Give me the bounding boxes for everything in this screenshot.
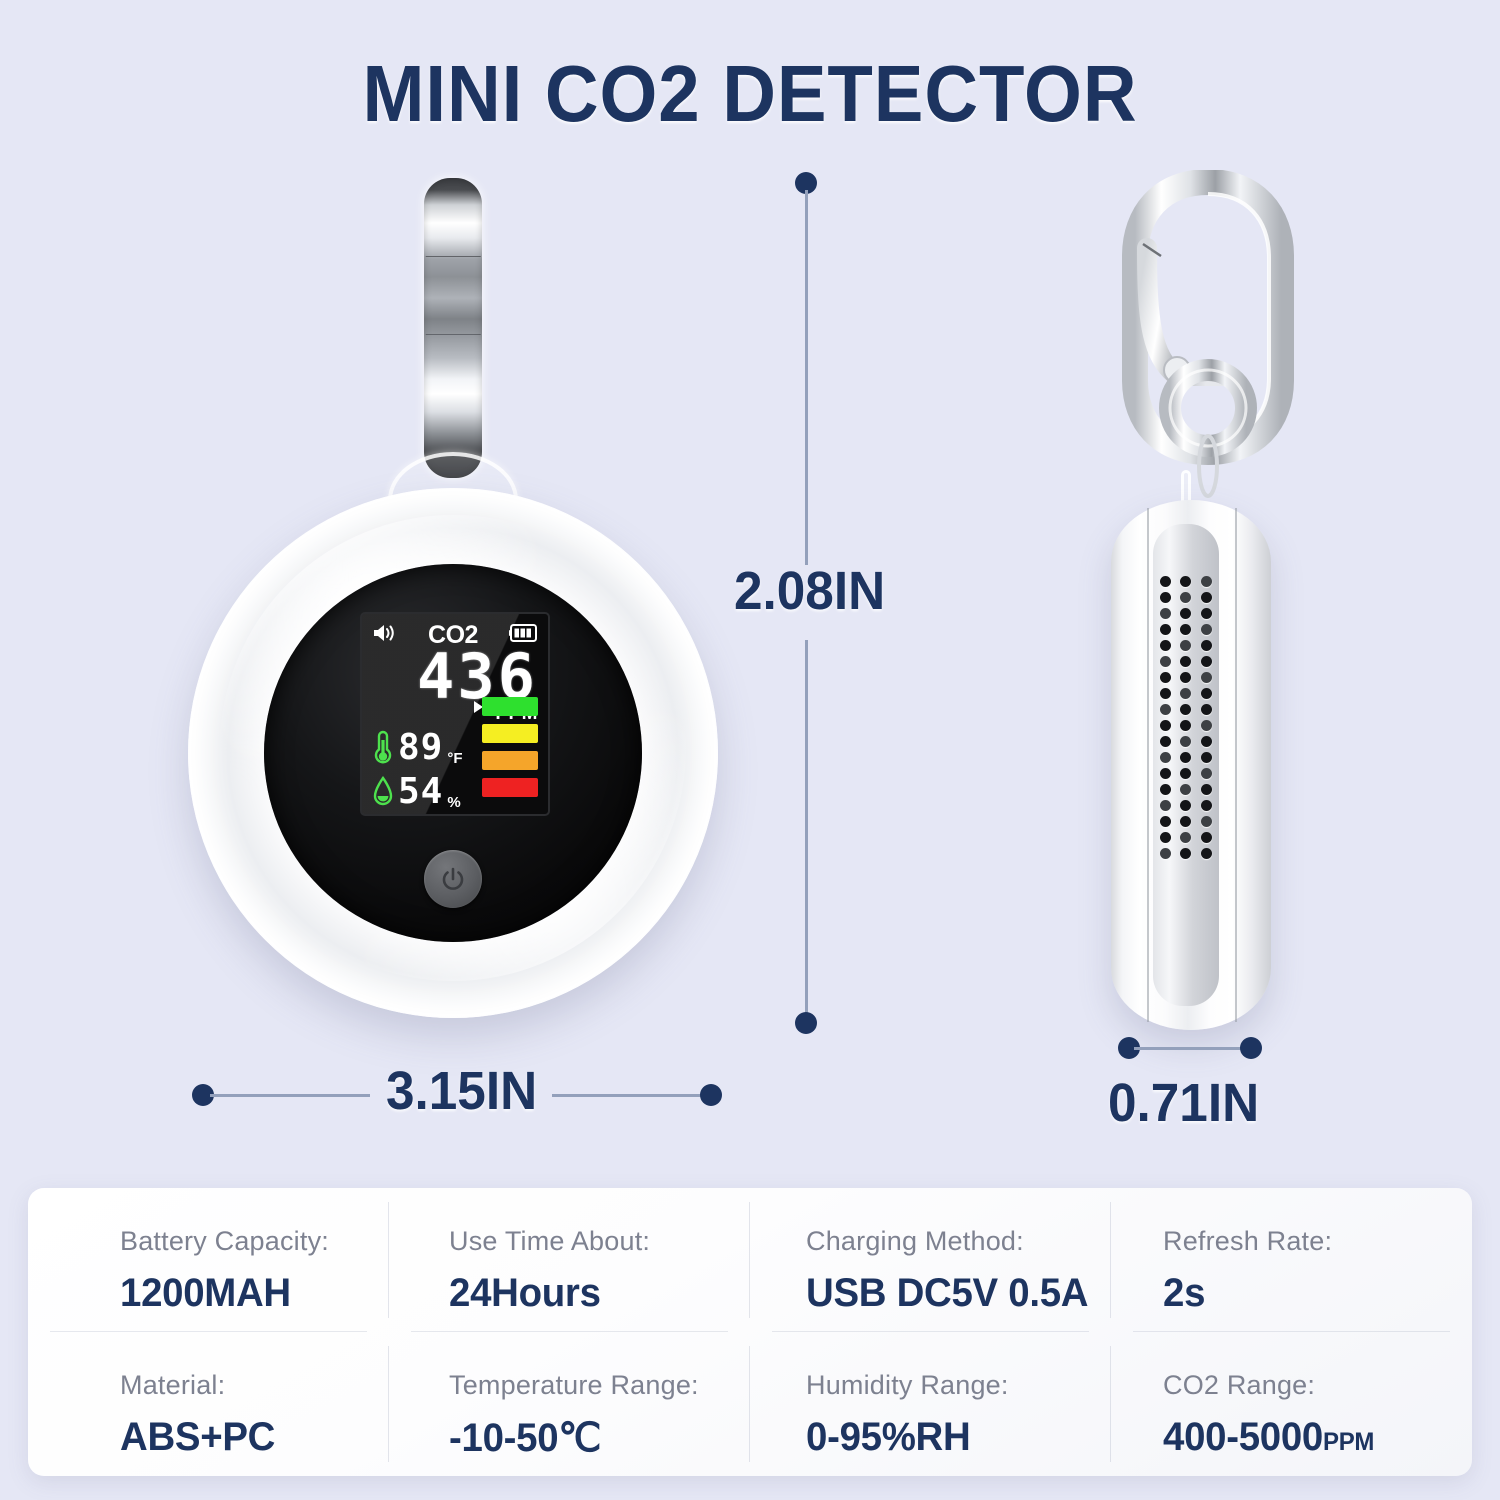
spec-cell-temperature-range: Temperature Range: -10-50℃ xyxy=(389,1332,750,1476)
vent-grille-icon xyxy=(1153,524,1219,1006)
humidity-unit: % xyxy=(447,794,460,811)
thermometer-icon xyxy=(370,729,396,767)
dim-dot-width-right xyxy=(700,1084,722,1106)
vent-hole xyxy=(1201,752,1212,763)
spec-table: Battery Capacity: 1200MAH Use Time About… xyxy=(28,1188,1472,1476)
vent-hole xyxy=(1180,720,1191,731)
gauge-bar-red xyxy=(482,778,538,797)
spec-label: Charging Method: xyxy=(806,1226,1111,1257)
vent-hole xyxy=(1180,576,1191,587)
spec-value: -10-50℃ xyxy=(449,1415,738,1461)
vent-hole xyxy=(1160,656,1171,667)
power-button[interactable] xyxy=(424,850,482,908)
vent-hole xyxy=(1160,784,1171,795)
vent-hole xyxy=(1201,848,1212,859)
speaker-sound-icon xyxy=(371,622,397,649)
spec-label: Refresh Rate: xyxy=(1163,1226,1472,1257)
vent-hole xyxy=(1180,672,1191,683)
vent-hole xyxy=(1180,704,1191,715)
vent-hole xyxy=(1201,624,1212,635)
vent-hole xyxy=(1160,640,1171,651)
spec-value: 400-5000PPM xyxy=(1163,1415,1460,1460)
vent-hole xyxy=(1160,688,1171,699)
humidity-reading: 54 % xyxy=(370,770,488,814)
vent-hole xyxy=(1180,800,1191,811)
vent-hole xyxy=(1160,752,1171,763)
vent-hole xyxy=(1201,720,1212,731)
vent-hole xyxy=(1160,736,1171,747)
vent-hole xyxy=(1160,608,1171,619)
spec-cell-battery-capacity: Battery Capacity: 1200MAH xyxy=(28,1188,389,1332)
vent-hole xyxy=(1201,672,1212,683)
vent-hole xyxy=(1201,832,1212,843)
carabiner-edge-icon xyxy=(424,178,482,478)
device-side-view xyxy=(1085,170,1335,1050)
vent-hole xyxy=(1201,656,1212,667)
vent-hole xyxy=(1201,768,1212,779)
body-seam-right xyxy=(1235,508,1237,1022)
vent-hole xyxy=(1180,592,1191,603)
vent-hole xyxy=(1180,736,1191,747)
gauge-bar-green xyxy=(482,697,538,716)
dim-line-height-lower xyxy=(805,640,808,1015)
vent-hole xyxy=(1160,704,1171,715)
temperature-unit: °F xyxy=(447,750,462,767)
vent-hole xyxy=(1201,576,1212,587)
secondary-readings: 89 °F 54 % xyxy=(370,726,488,814)
vent-hole xyxy=(1201,816,1212,827)
vent-hole xyxy=(1160,848,1171,859)
dim-line-height-upper xyxy=(805,190,808,565)
spec-label: Material: xyxy=(120,1370,389,1401)
vent-hole-grid xyxy=(1159,576,1213,859)
spec-label: CO2 Range: xyxy=(1163,1370,1472,1401)
vent-hole xyxy=(1160,624,1171,635)
vent-hole xyxy=(1160,592,1171,603)
vent-hole xyxy=(1160,720,1171,731)
dim-label-height: 2.08IN xyxy=(734,560,885,622)
vent-hole xyxy=(1160,832,1171,843)
device-face: CO2 436 PPM xyxy=(264,564,642,942)
device-body-side xyxy=(1111,500,1271,1030)
vent-hole xyxy=(1180,640,1191,651)
vent-hole xyxy=(1160,800,1171,811)
spec-cell-humidity-range: Humidity Range: 0-95%RH xyxy=(750,1332,1111,1476)
air-quality-gauge xyxy=(474,697,538,805)
vent-hole xyxy=(1160,816,1171,827)
vent-hole xyxy=(1201,688,1212,699)
spec-label: Use Time About: xyxy=(449,1226,750,1257)
spec-value: USB DC5V 0.5A xyxy=(806,1271,1099,1316)
dim-label-width: 3.15IN xyxy=(386,1060,537,1122)
spec-label: Temperature Range: xyxy=(449,1370,750,1401)
body-seam-left xyxy=(1147,508,1149,1022)
spec-cell-use-time: Use Time About: 24Hours xyxy=(389,1188,750,1332)
vent-hole xyxy=(1180,688,1191,699)
spec-value: 0-95%RH xyxy=(806,1415,1099,1460)
humidity-value: 54 xyxy=(398,774,443,810)
dim-line-width-right xyxy=(552,1094,710,1097)
gauge-bar-yellow xyxy=(482,724,538,743)
gauge-level-orange xyxy=(474,751,538,773)
temperature-value: 89 xyxy=(398,730,443,766)
gauge-level-red xyxy=(474,778,538,800)
dim-label-depth: 0.71IN xyxy=(1108,1072,1259,1134)
gauge-bar-orange xyxy=(482,751,538,770)
vent-hole xyxy=(1201,736,1212,747)
vent-hole xyxy=(1180,784,1191,795)
dim-dot-height-bottom xyxy=(795,1012,817,1034)
spec-label: Humidity Range: xyxy=(806,1370,1111,1401)
dim-line-depth xyxy=(1134,1047,1252,1050)
vent-hole xyxy=(1180,816,1191,827)
carabiner-hook-icon xyxy=(1103,170,1313,505)
vent-hole xyxy=(1201,800,1212,811)
vent-hole xyxy=(1180,752,1191,763)
spec-cell-refresh-rate: Refresh Rate: 2s xyxy=(1111,1188,1472,1332)
vent-hole xyxy=(1160,576,1171,587)
vent-hole xyxy=(1180,832,1191,843)
vent-hole xyxy=(1160,672,1171,683)
vent-hole xyxy=(1160,768,1171,779)
vent-hole xyxy=(1180,608,1191,619)
power-icon xyxy=(439,865,467,893)
spec-value: ABS+PC xyxy=(120,1415,378,1460)
vent-hole xyxy=(1180,848,1191,859)
vent-hole xyxy=(1180,768,1191,779)
vent-hole xyxy=(1201,784,1212,795)
dim-line-width-left xyxy=(210,1094,370,1097)
spec-value: 24Hours xyxy=(449,1271,738,1316)
vent-hole xyxy=(1201,608,1212,619)
vent-hole xyxy=(1201,704,1212,715)
spec-cell-co2-range: CO2 Range: 400-5000PPM xyxy=(1111,1332,1472,1476)
dim-dot-depth-right xyxy=(1240,1037,1262,1059)
spec-cell-charging-method: Charging Method: USB DC5V 0.5A xyxy=(750,1188,1111,1332)
spec-value: 1200MAH xyxy=(120,1271,378,1316)
vent-hole xyxy=(1201,592,1212,603)
spec-cell-material: Material: ABS+PC xyxy=(28,1332,389,1476)
gauge-level-yellow xyxy=(474,724,538,746)
spec-label: Battery Capacity: xyxy=(120,1226,389,1257)
lcd-display: CO2 436 PPM xyxy=(360,612,550,816)
vent-hole xyxy=(1180,656,1191,667)
water-drop-icon xyxy=(370,775,396,809)
vent-hole xyxy=(1201,640,1212,651)
gauge-level-green xyxy=(474,697,538,719)
spec-value: 2s xyxy=(1163,1271,1460,1316)
temperature-reading: 89 °F xyxy=(370,726,488,770)
device-front-view: CO2 436 PPM xyxy=(176,170,732,1040)
vent-hole xyxy=(1180,624,1191,635)
